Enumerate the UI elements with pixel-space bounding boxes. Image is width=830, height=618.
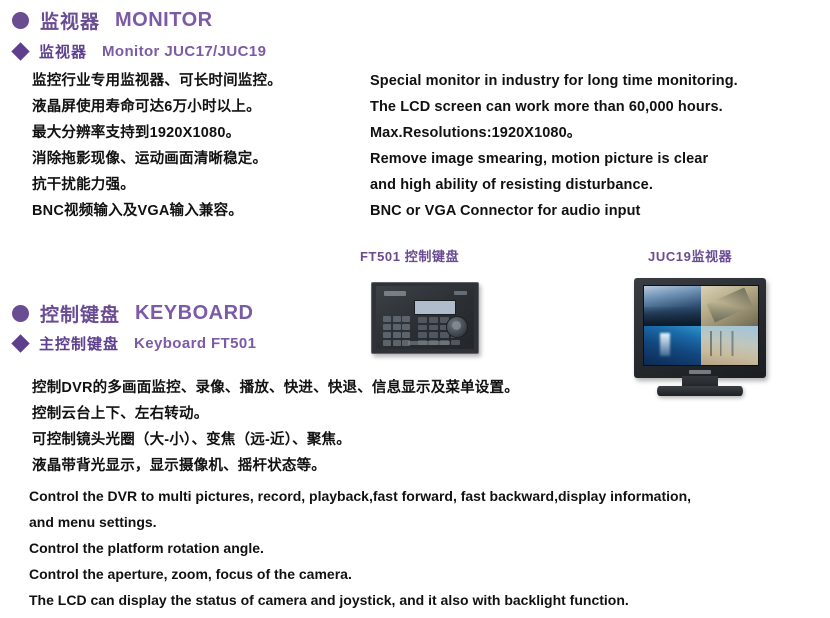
- feature-line: 液晶带背光显示，显示摄像机、摇杆状态等。: [32, 453, 519, 479]
- keyboard-figure-caption: FT501 控制键盘: [360, 246, 459, 265]
- keyboard-brand-logo: [384, 291, 406, 296]
- monitor-quad-screen: [643, 285, 759, 366]
- keyboard-heading-cn: 控制键盘: [40, 300, 120, 327]
- keyboard-model-label: [454, 291, 467, 295]
- keyboard-subheading-en: Keyboard FT501: [134, 335, 256, 352]
- screen-quadrant-4: [701, 326, 758, 366]
- keyboard-section-subheading: 主控制键盘 Keyboard FT501: [14, 333, 256, 354]
- feature-line: 监控行业专用监视器、可长时间监控。: [32, 68, 282, 94]
- feature-line: 液晶屏使用寿命可达6万小时以上。: [32, 94, 282, 120]
- monitor-subheading-en: Monitor JUC17/JUC19: [102, 43, 266, 60]
- feature-line: Control the aperture, zoom, focus of the…: [29, 561, 691, 587]
- diamond-bullet-icon: [11, 42, 29, 60]
- keyboard-features-cn: 控制DVR的多画面监控、录像、播放、快进、快退、信息显示及菜单设置。 控制云台上…: [32, 375, 519, 479]
- feature-line: 控制云台上下、左右转动。: [32, 401, 519, 427]
- keyboard-product-photo: [371, 282, 479, 354]
- feature-line: 消除拖影现像、运动画面清晰稳定。: [32, 146, 282, 172]
- feature-line: BNC视频输入及VGA输入兼容。: [32, 198, 282, 224]
- keyboard-numeric-keypad: [383, 316, 410, 346]
- feature-line: Control the platform rotation angle.: [29, 535, 691, 561]
- circle-bullet-icon: [12, 305, 29, 322]
- feature-line: 可控制镜头光圈（大-小）、变焦（远-近）、聚焦。: [32, 427, 519, 453]
- keyboard-heading-en: KEYBOARD: [135, 302, 253, 325]
- screen-quadrant-3: [644, 326, 701, 366]
- feature-line: Remove image smearing, motion picture is…: [370, 146, 738, 172]
- feature-line: 控制DVR的多画面监控、录像、播放、快进、快退、信息显示及菜单设置。: [32, 375, 519, 401]
- screen-quadrant-1: [644, 286, 701, 326]
- monitor-section-heading: 监视器 MONITOR: [12, 7, 213, 34]
- monitor-heading-en: MONITOR: [115, 9, 213, 32]
- feature-line: The LCD can display the status of camera…: [29, 587, 691, 613]
- feature-line: Special monitor in industry for long tim…: [370, 68, 738, 94]
- feature-line: 抗干扰能力强。: [32, 172, 282, 198]
- feature-line: and high ability of resisting disturbanc…: [370, 172, 738, 198]
- keyboard-lcd-display: [414, 300, 456, 315]
- circle-bullet-icon: [12, 12, 29, 29]
- diamond-bullet-icon: [11, 334, 29, 352]
- feature-line: The LCD screen can work more than 60,000…: [370, 94, 738, 120]
- keyboard-bottom-label: [408, 341, 450, 345]
- feature-line: 最大分辨率支持到1920X1080。: [32, 120, 282, 146]
- monitor-features-en: Special monitor in industry for long tim…: [370, 68, 738, 224]
- keyboard-features-en: Control the DVR to multi pictures, recor…: [29, 483, 691, 613]
- monitor-features-cn: 监控行业专用监视器、可长时间监控。 液晶屏使用寿命可达6万小时以上。 最大分辨率…: [32, 68, 282, 224]
- feature-line: Max.Resolutions:1920X1080。: [370, 120, 738, 146]
- feature-line: and menu settings.: [29, 509, 691, 535]
- monitor-bezel: [634, 278, 766, 378]
- feature-line: Control the DVR to multi pictures, recor…: [29, 483, 691, 509]
- monitor-brand-logo: [689, 370, 711, 374]
- joystick-knob: [452, 321, 461, 330]
- monitor-heading-cn: 监视器: [40, 7, 100, 34]
- monitor-section-subheading: 监视器 Monitor JUC17/JUC19: [14, 41, 266, 62]
- keyboard-subheading-cn: 主控制键盘: [39, 333, 119, 354]
- keyboard-faceplate: [376, 286, 474, 349]
- keyboard-section-heading: 控制键盘 KEYBOARD: [12, 300, 253, 327]
- screen-quadrant-2: [701, 286, 758, 326]
- monitor-subheading-cn: 监视器: [39, 41, 87, 62]
- monitor-stand-base: [657, 386, 743, 396]
- keyboard-joystick-icon: [446, 316, 468, 338]
- monitor-figure-caption: JUC19监视器: [648, 246, 732, 265]
- monitor-product-photo: [634, 278, 766, 400]
- feature-line: BNC or VGA Connector for audio input: [370, 198, 738, 224]
